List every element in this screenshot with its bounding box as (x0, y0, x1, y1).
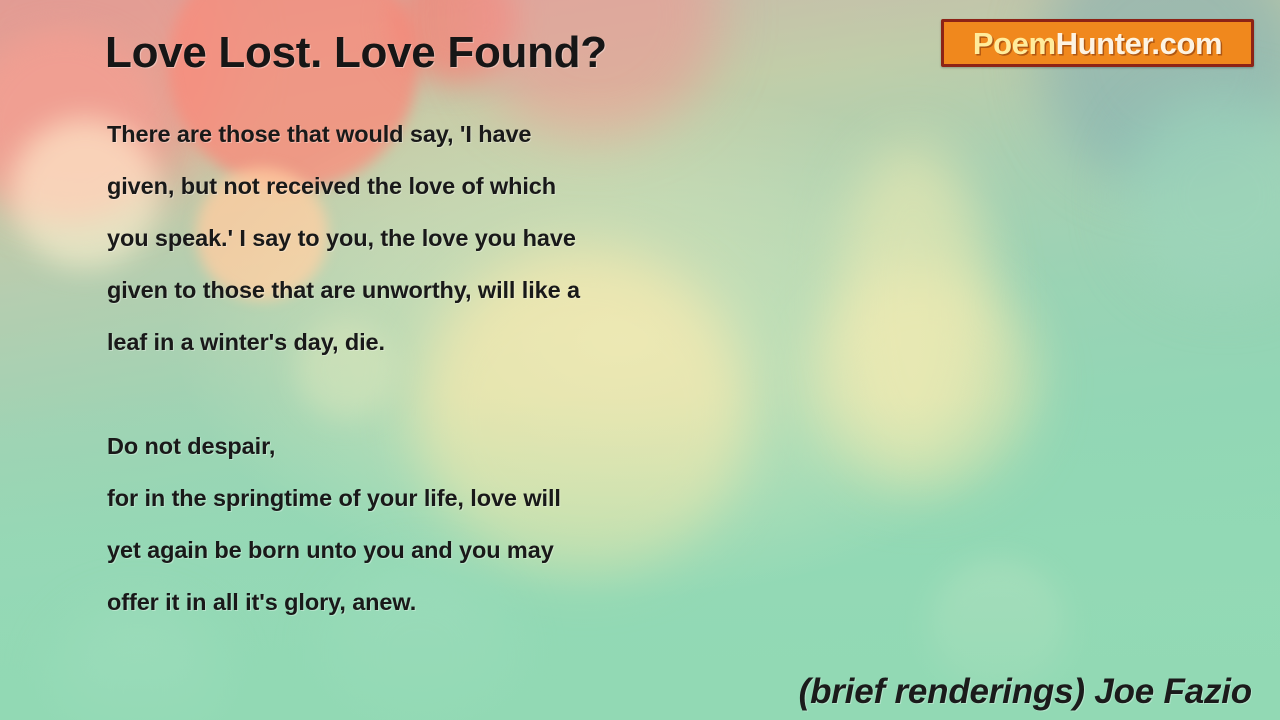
poem-attribution: (brief renderings) Joe Fazio (799, 672, 1252, 712)
poem-line-blank (107, 368, 907, 420)
poem-line: leaf in a winter's day, die. (107, 316, 907, 368)
poem-line: Do not despair, (107, 420, 907, 472)
poem-line: for in the springtime of your life, love… (107, 472, 907, 524)
poem-line: you speak.' I say to you, the love you h… (107, 212, 907, 264)
poem-line: offer it in all it's glory, anew. (107, 576, 907, 628)
poem-line: given, but not received the love of whic… (107, 160, 907, 212)
logo-text-poem: Poem (973, 26, 1056, 61)
poem-content: Love Lost. Love Found? There are those t… (0, 0, 1280, 720)
poem-body: There are those that would say, 'I have … (107, 108, 907, 628)
poem-line: There are those that would say, 'I have (107, 108, 907, 160)
poem-line: yet again be born unto you and you may (107, 524, 907, 576)
poem-image-card: Love Lost. Love Found? There are those t… (0, 0, 1280, 720)
logo-wordmark: PoemHunter.com (973, 28, 1222, 59)
logo-text-hunter: Hunter.com (1056, 26, 1223, 61)
poemhunter-logo[interactable]: PoemHunter.com (941, 19, 1254, 67)
poem-line: given to those that are unworthy, will l… (107, 264, 907, 316)
page-title: Love Lost. Love Found? (105, 28, 607, 78)
